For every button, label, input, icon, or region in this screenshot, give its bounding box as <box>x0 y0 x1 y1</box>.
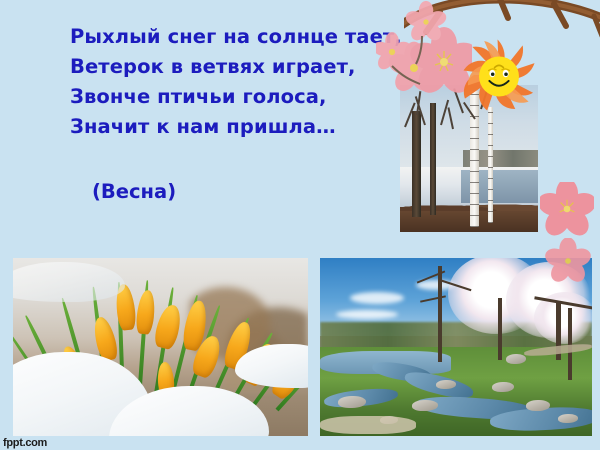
photo-birches-melting-snow <box>400 85 538 232</box>
tree-trunk <box>412 111 421 217</box>
watermark: fppt.com <box>3 437 47 449</box>
photo-yellow-crocuses-in-snow <box>13 258 308 436</box>
sun-brow-left <box>489 69 496 71</box>
birch-trunk <box>488 107 493 223</box>
rock <box>492 382 514 392</box>
riddle-text-block: Рыхлый снег на солнце тает, Ветерок в ве… <box>70 22 400 142</box>
tree-trunk <box>498 298 502 360</box>
rock <box>506 354 526 364</box>
sun-eye-left <box>489 70 495 77</box>
rock <box>436 380 456 389</box>
cloud <box>350 292 404 304</box>
riddle-line-4: Значит к нам пришла… <box>70 112 400 142</box>
riddle-line-3: Звонче птичьи голоса, <box>70 82 400 112</box>
riddle-answer: (Весна) <box>92 180 176 203</box>
sun-forehead-curl <box>495 65 504 67</box>
cherry-blossom-right-edge <box>540 182 594 236</box>
slide-canvas: Рыхлый снег на солнце тает, Ветерок в ве… <box>0 0 600 450</box>
rock <box>526 400 550 411</box>
gravel-shore <box>320 416 416 434</box>
riddle-line-2: Ветерок в ветвях играет, <box>70 52 400 82</box>
rock <box>338 396 366 408</box>
tree-branch-decoration <box>404 0 600 52</box>
sun-brow-right <box>502 69 509 71</box>
riddle-line-1: Рыхлый снег на солнце тает, <box>70 22 400 52</box>
cloud <box>336 310 398 319</box>
photo-spring-park-stream <box>320 258 592 436</box>
rock <box>558 414 578 423</box>
tree-trunk <box>430 103 436 215</box>
sun-eye-right <box>503 70 509 77</box>
rock <box>412 400 438 411</box>
